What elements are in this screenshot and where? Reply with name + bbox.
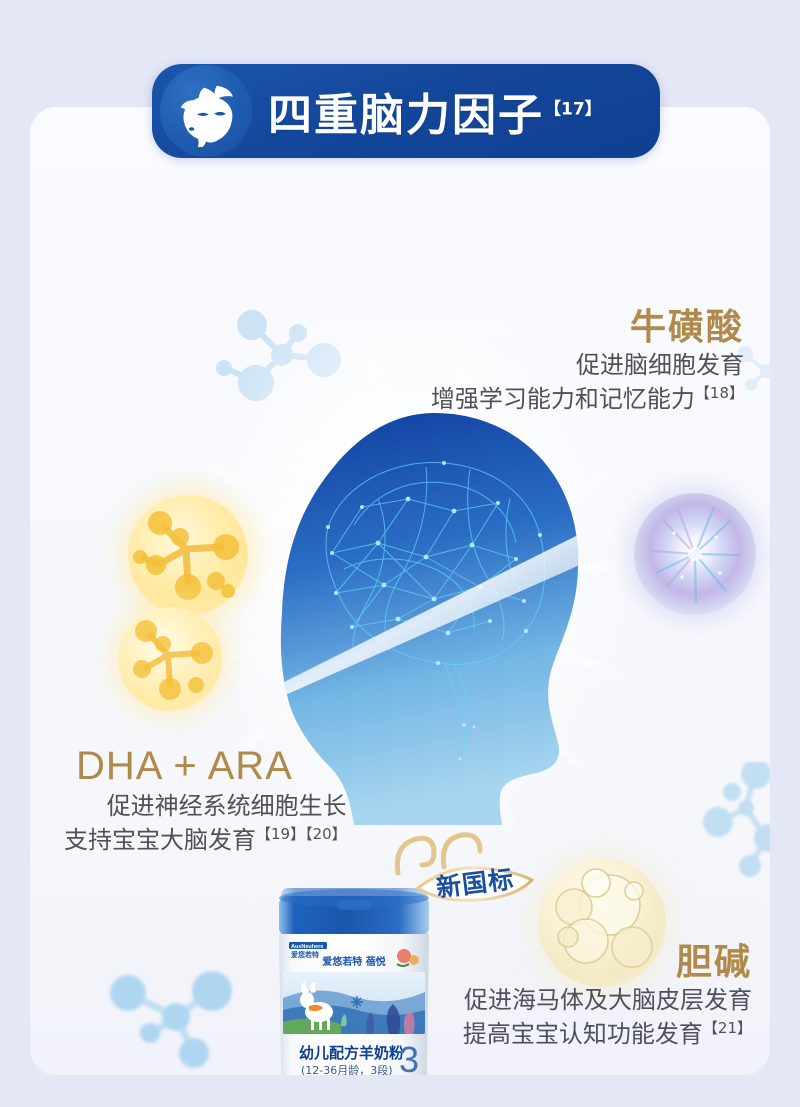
factor-choline-line2: 提高宝宝认知功能发育【21】 [463,1017,752,1051]
page-title-text: 四重脑力因子 [268,90,544,141]
factor-choline-line2-text: 提高宝宝认知功能发育 [463,1020,703,1048]
molecule-decoration-icon [90,955,240,1075]
factor-dha-ara-line2: 支持宝宝大脑发育【19】【20】 [64,823,347,857]
molecule-decoration-icon [698,762,770,897]
factor-choline: 胆碱 促进海马体及大脑皮层发育 提高宝宝认知功能发育【21】 [463,942,752,1052]
gold-molecule-circle-icon [118,607,222,711]
factor-taurine-line1: 促进脑细胞发育 [431,348,744,382]
page-title: 四重脑力因子【17】 [268,79,602,143]
factor-taurine: 牛磺酸 促进脑细胞发育 增强学习能力和记忆能力【18】 [431,307,744,417]
svg-text:(12-36月龄，3段): (12-36月龄，3段) [301,1063,393,1075]
radiant-burst-circle-icon [634,493,756,615]
factor-choline-superscript: 【21】 [703,1019,752,1037]
factor-taurine-superscript: 【18】 [695,384,744,402]
factor-dha-ara-superscript: 【19】【20】 [256,825,347,843]
factor-taurine-line2: 增强学习能力和记忆能力【18】 [431,382,744,416]
new-standard-badge: 新国标 [416,860,534,904]
svg-text:AusNeuhere: AusNeuhere [291,944,323,950]
factor-choline-name: 胆碱 [463,942,752,983]
illustration-scene: AusNeuhere 爱您若特 爱悠若特 蓓悦 [30,107,770,1075]
svg-text:3: 3 [399,1039,419,1075]
factor-dha-ara-line2-text: 支持宝宝大脑发育 [64,826,256,854]
page-title-superscript: 【17】 [544,99,602,119]
content-card: AusNeuhere 爱您若特 爱悠若特 蓓悦 [30,107,770,1075]
factor-taurine-line2-text: 增强学习能力和记忆能力 [431,385,695,413]
factor-choline-line1: 促进海马体及大脑皮层发育 [463,983,752,1017]
gold-molecule-circle-icon [128,495,248,615]
factor-dha-ara: DHA + ARA 促进神经系统细胞生长 支持宝宝大脑发育【19】【20】 [64,743,347,857]
svg-text:幼儿配方羊奶粉: 幼儿配方羊奶粉 [299,1044,404,1062]
factor-dha-ara-line1: 促进神经系统细胞生长 [64,789,347,823]
svg-text:爱悠若特 蓓悦: 爱悠若特 蓓悦 [322,955,385,968]
product-can[interactable]: AusNeuhere 爱您若特 爱悠若特 蓓悦 [271,886,437,1075]
goat-head-icon [160,65,252,157]
factor-taurine-name: 牛磺酸 [431,307,744,348]
header-banner: 四重脑力因子【17】 [152,64,660,158]
svg-text:爱您若特: 爱您若特 [291,950,319,959]
factor-dha-ara-name: DHA + ARA [64,743,347,789]
